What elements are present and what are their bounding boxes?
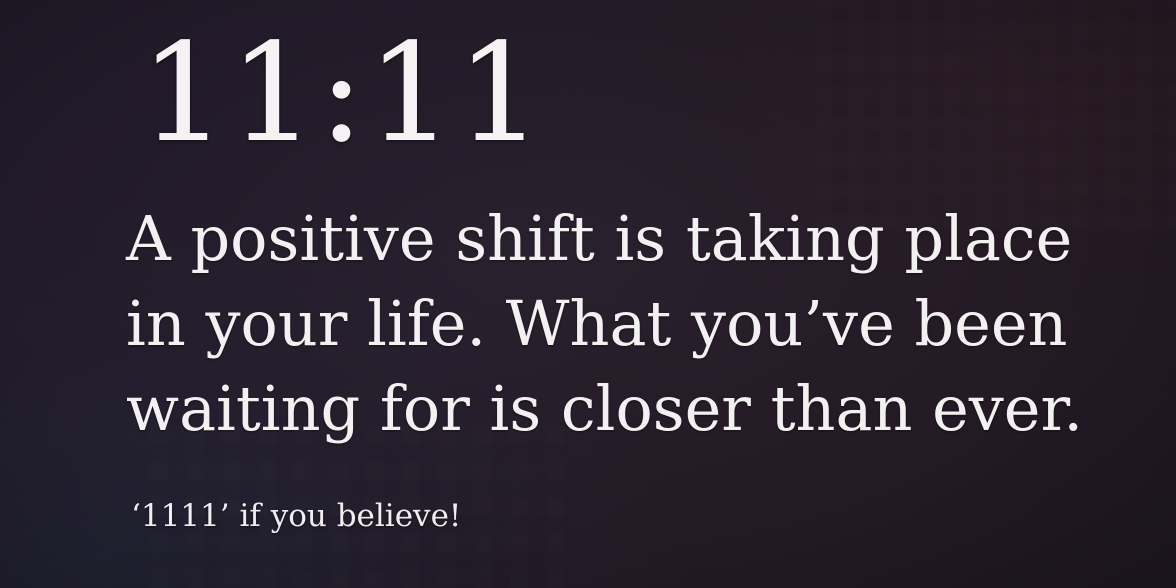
- content-layer: 11:11 A positive shift is taking place i…: [0, 0, 1176, 588]
- clock-time: 11:11: [140, 26, 546, 162]
- quote-line-2: in your life. What you’ve been: [126, 281, 1026, 366]
- wallpaper-quote-screen: 11:11 A positive shift is taking place i…: [0, 0, 1176, 588]
- quote-line-3: waiting for is closer than ever.: [126, 366, 1026, 451]
- quote-line-1: A positive shift is taking place: [126, 196, 1026, 281]
- caption-call-to-action: ‘1111’ if you believe!: [131, 498, 461, 535]
- quote-text-block: A positive shift is taking place in your…: [126, 196, 1026, 451]
